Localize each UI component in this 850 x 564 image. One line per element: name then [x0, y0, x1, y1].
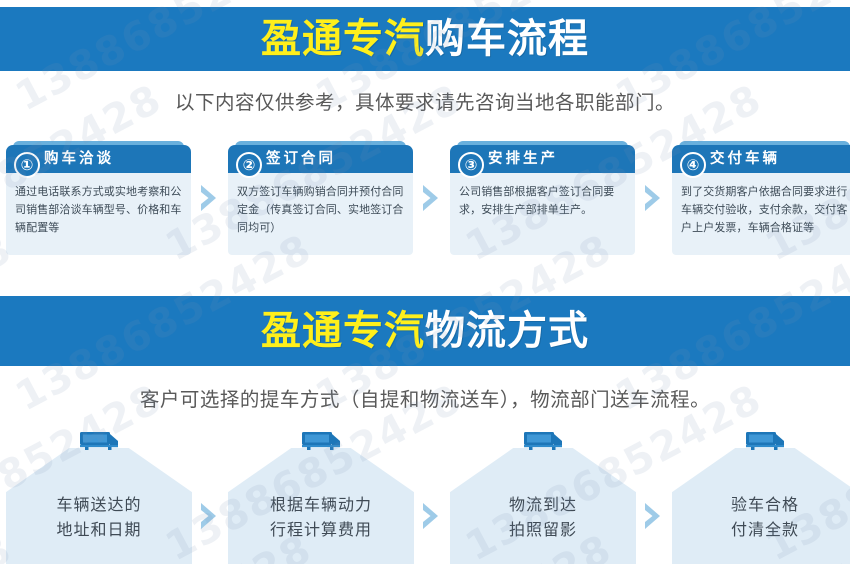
logistics-card-3-line2: 拍照留影 [509, 518, 577, 543]
logistics-card-1-line1: 车辆送达的 [56, 493, 141, 518]
step-card-1-body: 通过电话联系方式或实地考察和公司销售部洽谈车辆型号、价格和车辆配置等 [6, 173, 191, 255]
promo-page: 盈通专汽购车流程 以下内容仅供参考，具体要求请先咨询当地各职能部门。 购车洽谈 … [0, 0, 850, 564]
step-card-2-number-badge: ② [236, 152, 262, 178]
subtitle-purchase-note: 以下内容仅供参考，具体要求请先咨询当地各职能部门。 [0, 86, 850, 115]
step-card-2-body: 双方签订车辆购销合同并预付合同定金（传真签订合同、实地签订合同均可） [228, 173, 413, 255]
truck-icon [300, 430, 342, 452]
step-card-4-number-badge: ④ [680, 152, 706, 178]
logistics-card-4-line1: 验车合格 [731, 493, 799, 518]
logistics-card-1[interactable]: 车辆送达的 地址和日期 [6, 428, 192, 564]
subtitle-logistics-note: 客户可选择的提车方式（自提和物流送车），物流部门送车流程。 [0, 383, 850, 412]
step-card-4[interactable]: 交付车辆 ④ 到了交货期客户依据合同要求进行车辆交付验收，支付余款，交付客户上户… [672, 140, 850, 255]
logistics-card-3[interactable]: 物流到达 拍照留影 [450, 428, 636, 564]
chevron-right-icon [636, 428, 672, 564]
banner-2-rest: 物流方式 [425, 308, 589, 354]
step-card-2-title: 签订合同 [266, 152, 336, 167]
banner-purchase-process: 盈通专汽购车流程 [0, 7, 850, 71]
banner-logistics-method: 盈通专汽物流方式 [0, 296, 850, 366]
logistics-steps-row: 车辆送达的 地址和日期 根据车辆动力 [0, 428, 850, 564]
banner-logistics-method-text: 盈通专汽物流方式 [261, 311, 589, 351]
logistics-card-1-shape: 车辆送达的 地址和日期 [6, 448, 192, 564]
logistics-card-2-shape: 根据车辆动力 行程计算费用 [228, 448, 414, 564]
truck-icon [744, 430, 786, 452]
step-card-4-body: 到了交货期客户依据合同要求进行车辆交付验收，支付余款，交付客户上户发票，车辆合格… [672, 173, 850, 255]
banner-2-brand: 盈通专汽 [261, 308, 425, 354]
logistics-card-2-line2: 行程计算费用 [270, 518, 372, 543]
truck-icon [522, 430, 564, 452]
chevron-right-icon [413, 140, 450, 255]
chevron-right-icon [192, 428, 228, 564]
logistics-card-2-line1: 根据车辆动力 [270, 493, 372, 518]
banner-1-rest: 购车流程 [425, 16, 589, 62]
step-card-1[interactable]: 购车洽谈 ① 通过电话联系方式或实地考察和公司销售部洽谈车辆型号、价格和车辆配置… [6, 140, 191, 255]
step-card-3-body: 公司销售部根据客户签订合同要求，安排生产部排单生产。 [450, 173, 635, 255]
chevron-right-icon [191, 140, 228, 255]
step-card-1-number-badge: ① [14, 152, 40, 178]
chevron-right-icon [635, 140, 672, 255]
logistics-card-3-line1: 物流到达 [509, 493, 577, 518]
step-card-3-number-badge: ③ [458, 152, 484, 178]
step-card-4-title: 交付车辆 [710, 152, 780, 167]
logistics-card-4-line2: 付清全款 [731, 518, 799, 543]
banner-purchase-process-text: 盈通专汽购车流程 [261, 19, 589, 59]
step-card-2[interactable]: 签订合同 ② 双方签订车辆购销合同并预付合同定金（传真签订合同、实地签订合同均可… [228, 140, 413, 255]
truck-icon [78, 430, 120, 452]
logistics-card-4[interactable]: 验车合格 付清全款 [672, 428, 850, 564]
banner-1-brand: 盈通专汽 [261, 16, 425, 62]
chevron-right-icon [414, 428, 450, 564]
logistics-card-4-shape: 验车合格 付清全款 [672, 448, 850, 564]
logistics-card-2[interactable]: 根据车辆动力 行程计算费用 [228, 428, 414, 564]
purchase-steps-row: 购车洽谈 ① 通过电话联系方式或实地考察和公司销售部洽谈车辆型号、价格和车辆配置… [0, 140, 850, 260]
step-card-3-title: 安排生产 [488, 152, 558, 167]
step-card-3[interactable]: 安排生产 ③ 公司销售部根据客户签订合同要求，安排生产部排单生产。 [450, 140, 635, 255]
step-card-1-title: 购车洽谈 [44, 152, 114, 167]
logistics-card-3-shape: 物流到达 拍照留影 [450, 448, 636, 564]
logistics-card-1-line2: 地址和日期 [56, 518, 141, 543]
